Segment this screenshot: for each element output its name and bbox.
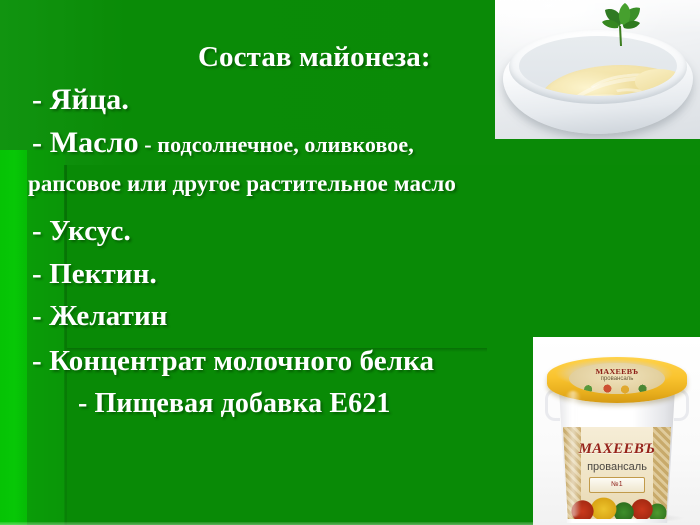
ingredient-bullet: - xyxy=(78,388,95,419)
ingredient-name: Яйца. xyxy=(50,83,129,116)
ingredient-line-milk-protein: - Концентрат молочного белка xyxy=(32,345,434,378)
ingredient-bullet: - xyxy=(32,215,49,247)
ingredient-line-oil: - Масло - подсолнечное, оливковое, xyxy=(32,126,414,160)
ingredient-bullet: - xyxy=(32,126,50,159)
ingredient-name: Пектин. xyxy=(49,258,157,290)
page-title: Состав майонеза: xyxy=(198,41,431,74)
ingredient-name: Уксус. xyxy=(49,215,131,247)
ingredient-name: Масло xyxy=(50,126,139,159)
ingredient-line-vinegar: - Уксус. xyxy=(32,215,131,248)
ingredient-line-oil-continued: рапсовое или другое растительное масло xyxy=(28,171,456,197)
ingredient-bullet: - xyxy=(32,345,49,377)
ingredient-name: Желатин xyxy=(49,300,167,332)
ingredient-name: Пищевая добавка Е621 xyxy=(95,388,391,419)
slide-text-layer: Состав майонеза: - Яйца. - Масло - подсо… xyxy=(0,0,700,525)
ingredient-line-gelatin: - Желатин xyxy=(32,300,168,333)
ingredient-bullet: - xyxy=(32,258,49,290)
ingredient-line-additive-e621: - Пищевая добавка Е621 xyxy=(78,388,390,420)
ingredient-line-pectin: - Пектин. xyxy=(32,258,157,291)
ingredient-bullet: - xyxy=(32,300,49,332)
ingredient-bullet: - xyxy=(32,83,50,116)
slide-canvas: МАХЕЕВЪ провансаль №1 МАХЕЕВЪ провансаль… xyxy=(0,0,700,525)
ingredient-detail: - подсолнечное, оливковое, xyxy=(139,132,414,157)
ingredient-line-eggs: - Яйца. xyxy=(32,83,129,117)
ingredient-name: Концентрат молочного белка xyxy=(49,345,434,377)
